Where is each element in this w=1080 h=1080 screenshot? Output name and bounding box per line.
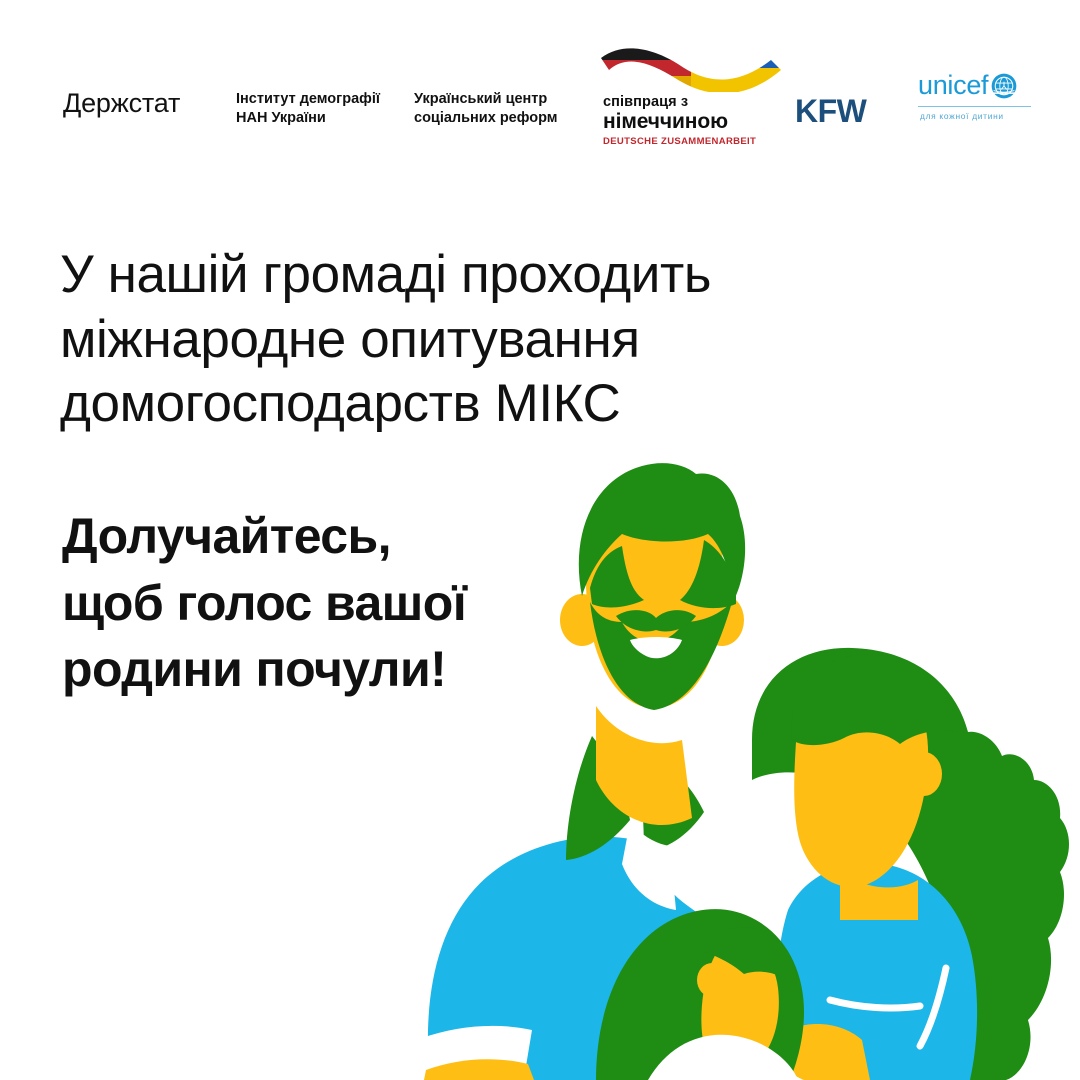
german-ukraine-ribbon-icon xyxy=(595,44,785,92)
german-logo-line3: DEUTSCHE ZUSAMMENARBEIT xyxy=(603,136,756,147)
logo-center-line2: соціальних реформ xyxy=(414,109,558,128)
unicef-globe-icon xyxy=(991,73,1017,99)
headline-line-1: У нашій громаді проходить xyxy=(60,243,900,308)
mother-ear xyxy=(906,752,942,796)
unicef-wordmark: unicef xyxy=(918,72,988,99)
logo-institute-line2: НАН України xyxy=(236,109,380,128)
family-illustration xyxy=(400,440,1080,1080)
logo-institute-line1: Інститут демографії xyxy=(236,90,380,109)
unicef-wordmark-row: unicef xyxy=(918,72,1017,99)
child-ear xyxy=(697,963,727,997)
headline: У нашій громаді проходить міжнародне опи… xyxy=(60,243,900,437)
logo-ukrainian-center-social-reforms: Український центр соціальних реформ xyxy=(414,90,558,128)
logo-institute-of-demography: Інститут демографії НАН України xyxy=(236,90,380,128)
german-logo-line2: німеччиною xyxy=(603,110,728,134)
family-illustration-graphic xyxy=(400,440,1080,1080)
logo-bar: Держстат Інститут демографії НАН України… xyxy=(0,0,1080,170)
logo-unicef: unicef для кожної дитини xyxy=(918,72,1033,130)
logo-center-line1: Український центр xyxy=(414,90,558,109)
headline-line-2: міжнародне опитування xyxy=(60,308,900,373)
logo-german-cooperation: співпраця з німеччиною DEUTSCHE ZUSAMMEN… xyxy=(595,44,785,154)
unicef-tagline: для кожної дитини xyxy=(920,111,1004,121)
poster-canvas: Держстат Інститут демографії НАН України… xyxy=(0,0,1080,1080)
headline-line-3: домогосподарств МІКС xyxy=(60,372,900,437)
logo-kfw: KFW xyxy=(795,93,866,130)
german-logo-line1: співпраця з xyxy=(603,94,688,110)
unicef-divider xyxy=(918,106,1031,107)
logo-derzhstat: Держстат xyxy=(63,88,180,119)
